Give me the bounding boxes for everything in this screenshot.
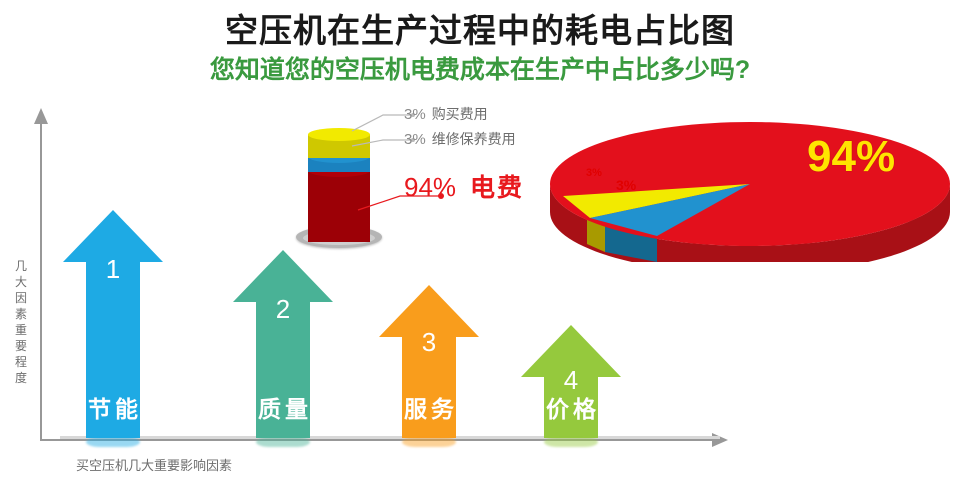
callout-electricity-label: 电费 — [470, 174, 524, 202]
arrow-rank-3: 3 — [379, 327, 479, 358]
arrow-label-1: 节能 — [63, 390, 163, 424]
arrow-bar-1[interactable]: 1 节能 — [63, 210, 163, 438]
arrow-bar-2[interactable]: 2 质量 — [233, 250, 333, 438]
arrow-label-4: 价格 — [521, 390, 621, 424]
pie-label-purchase: 3% — [586, 167, 602, 179]
callout-electricity-value: 94% — [404, 172, 456, 202]
arrow-label-3: 服务 — [379, 390, 479, 424]
cylinder-segment-purchase — [308, 128, 370, 158]
arrow-reflection-3 — [402, 437, 456, 447]
callout-purchase-value: 3% — [404, 106, 426, 123]
arrow-rank-1: 1 — [63, 254, 163, 285]
callout-purchase-label: 购买费用 — [432, 106, 488, 122]
arrow-reflection-2 — [256, 437, 310, 447]
callout-maintenance-value: 3% — [404, 131, 426, 148]
infographic-canvas: 空压机在生产过程中的耗电占比图 您知道您的空压机电费成本在生产中占比多少吗? 几… — [0, 0, 960, 483]
page-title: 空压机在生产过程中的耗电占比图 — [0, 4, 960, 52]
pie-label-maintenance: 3% — [616, 177, 636, 193]
arrow-rank-2: 2 — [233, 294, 333, 325]
page-subtitle: 您知道您的空压机电费成本在生产中占比多少吗? — [0, 50, 960, 86]
arrow-label-2: 质量 — [233, 390, 333, 424]
stacked-cylinder-chart[interactable] — [296, 118, 386, 253]
cylinder-segment-electricity — [308, 164, 370, 242]
arrow-bar-4[interactable]: 4 价格 — [521, 325, 621, 438]
callout-purchase: 3%购买费用 — [404, 104, 488, 124]
arrow-reflection-4 — [544, 437, 598, 447]
pie-chart-3d[interactable]: 94% 3% 3% — [545, 112, 955, 262]
arrow-bar-3[interactable]: 3 服务 — [379, 285, 479, 438]
cylinder-body — [308, 126, 370, 236]
pie-label-electricity: 94% — [807, 132, 895, 182]
callout-maintenance: 3%维修保养费用 — [404, 129, 516, 149]
callout-electricity: 94%电费 — [404, 168, 524, 204]
x-axis-label: 买空压机几大重要影响因素 — [76, 455, 232, 474]
arrow-reflection-1 — [86, 437, 140, 447]
y-axis-label: 几大因素重要程度 — [10, 258, 32, 386]
callout-maintenance-label: 维修保养费用 — [432, 131, 516, 147]
